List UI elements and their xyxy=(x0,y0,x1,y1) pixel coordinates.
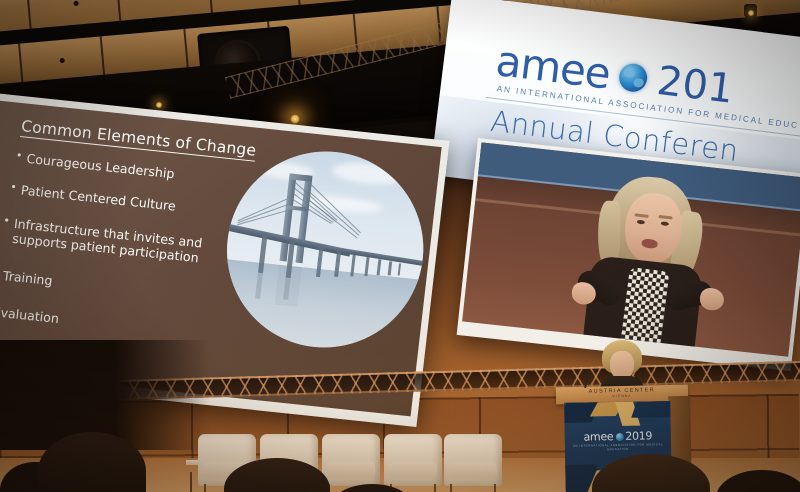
podium-amee-wordmark: amee xyxy=(583,430,613,444)
stage-chair xyxy=(322,434,380,486)
slide-bullet: Training xyxy=(0,268,243,309)
speaker-figure xyxy=(568,170,737,357)
stage-spotlight xyxy=(152,96,165,111)
speaker-video-feed xyxy=(462,142,800,356)
amee-wordmark: amee xyxy=(494,44,612,91)
bridge-photo xyxy=(216,142,433,357)
slide-bullet: Infrastructure that invites and supports… xyxy=(1,215,249,270)
slide-bullet: Patient Centered Culture xyxy=(9,182,253,222)
stage-chair xyxy=(444,434,502,486)
banner-year: 201 xyxy=(655,65,735,106)
stage-spotlight xyxy=(288,110,301,125)
podium-sign-year: 2019 xyxy=(625,429,652,442)
podium-sign-tagline: AN INTERNATIONAL ASSOCIATION FOR MEDICAL… xyxy=(565,442,671,452)
globe-icon xyxy=(618,62,649,93)
auditorium-scene: amee 201 AN INTERNATIONAL ASSOCIATION FO… xyxy=(0,0,800,492)
stage-chair xyxy=(384,434,442,486)
stage-spotlight xyxy=(744,4,757,19)
projection-screen-right xyxy=(457,138,800,371)
speaker-hand-right xyxy=(699,287,725,311)
globe-icon xyxy=(615,433,623,441)
